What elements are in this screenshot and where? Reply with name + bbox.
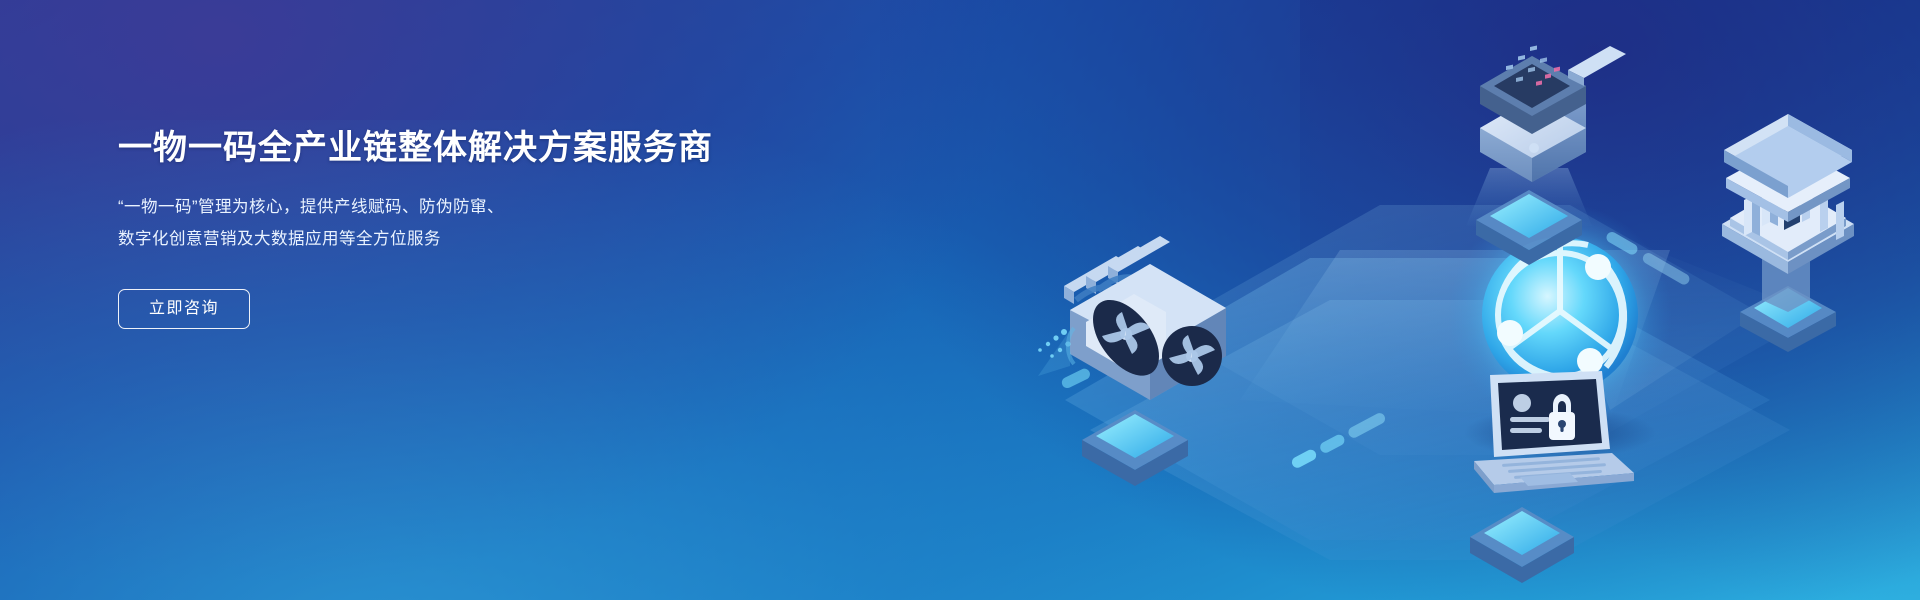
hero-copy: 一物一码全产业链整体解决方案服务商 “一物一码”管理为核心，提供产线赋码、防伪防… <box>118 128 838 329</box>
hero-subtitle: “一物一码”管理为核心，提供产线赋码、防伪防窜、 数字化创意营销及大数据应用等全… <box>118 191 838 255</box>
page-title: 一物一码全产业链整体解决方案服务商 <box>118 128 838 169</box>
consult-now-button[interactable]: 立即咨询 <box>118 289 250 329</box>
hero-subtitle-line-2: 数字化创意营销及大数据应用等全方位服务 <box>118 223 838 255</box>
hero-banner: 一物一码全产业链整体解决方案服务商 “一物一码”管理为核心，提供产线赋码、防伪防… <box>0 0 1920 600</box>
cta-container: 立即咨询 <box>118 289 838 329</box>
background-shade-right <box>1300 0 1920 600</box>
hero-subtitle-line-1: “一物一码”管理为核心，提供产线赋码、防伪防窜、 <box>118 191 838 223</box>
